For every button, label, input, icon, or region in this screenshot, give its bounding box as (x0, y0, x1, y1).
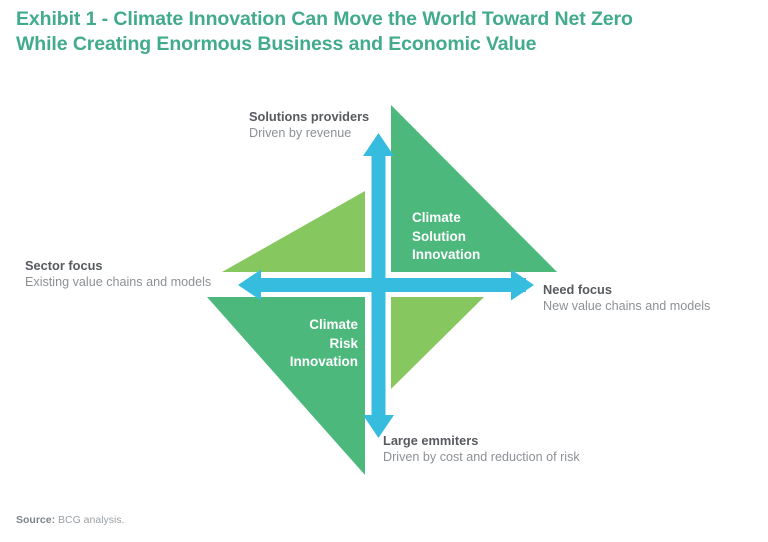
axis-label-top-heading: Solutions providers (249, 108, 369, 125)
axis-label-bottom-sub: Driven by cost and reduction of risk (383, 449, 580, 466)
axis-label-right-heading: Need focus (543, 281, 710, 298)
axis-label-top-sub: Driven by revenue (249, 125, 369, 142)
axis-label-left-sub: Existing value chains and models (25, 274, 211, 291)
page-title-line-2: While Creating Enormous Business and Eco… (16, 32, 736, 57)
quadrant-top-right-shape (391, 105, 557, 272)
source-text: BCG analysis. (58, 514, 125, 526)
axis-label-bottom: Large emmiters Driven by cost and reduct… (383, 432, 580, 466)
axis-label-left-heading: Sector focus (25, 257, 211, 274)
quadrant-top-left-shape (222, 191, 365, 272)
axis-label-left: Sector focus Existing value chains and m… (25, 257, 211, 291)
horizontal-axis-arrow (238, 270, 534, 301)
axis-label-right: Need focus New value chains and models (543, 281, 710, 315)
source-note: Source: BCG analysis. (16, 513, 125, 527)
axis-label-top: Solutions providers Driven by revenue (249, 108, 369, 142)
page-title-line-1: Exhibit 1 - Climate Innovation Can Move … (16, 7, 736, 32)
source-label: Source: (16, 514, 55, 526)
axis-label-bottom-heading: Large emmiters (383, 432, 580, 449)
quadrant-bottom-left-shape (207, 297, 365, 475)
exhibit-page: Exhibit 1 - Climate Innovation Can Move … (0, 0, 768, 542)
page-title: Exhibit 1 - Climate Innovation Can Move … (16, 7, 736, 57)
axis-label-right-sub: New value chains and models (543, 298, 710, 315)
quadrant-bottom-right-shape (391, 297, 484, 389)
